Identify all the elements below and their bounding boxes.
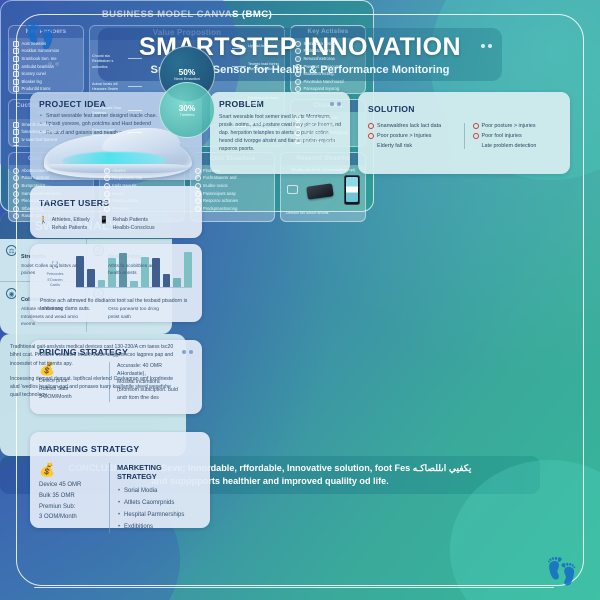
checkbox-icon — [13, 183, 19, 189]
legend-line: Caeits — [50, 283, 60, 287]
list-item-label: Smar-lb Sections — [22, 122, 53, 128]
vp-label-left: Aolcal forals wll Heauses Srstrie — [92, 82, 126, 93]
list-item: Irated blng Jobrd — [295, 138, 361, 144]
list-item: Iv suse bral ltprnent — [13, 137, 79, 143]
vp-label-right: Teomro lnad foring rise sip stabilico — [248, 62, 282, 73]
list-item-label: Pinotnuka Nanchousd. — [304, 79, 345, 85]
list-item: Rorpenness asa — [104, 175, 180, 181]
list-item: Stbaskl lnsg — [13, 206, 89, 212]
checkbox-icon — [295, 86, 301, 92]
decor-dots — [481, 44, 492, 48]
checkbox-icon — [13, 137, 19, 143]
solution-title: SOLUTION — [368, 104, 415, 114]
list-item: Pinotnuka Nanchousd. — [295, 79, 361, 85]
decor-dots — [330, 102, 341, 106]
swot-body: Athts fa ocobitbles and health ennsts — [108, 263, 166, 277]
list-item-label: Prodspmastsorong — [203, 206, 237, 212]
vp-label-left: Paconstuark Tose Sestests — [92, 106, 126, 117]
marketing-left-line: Device 45 OMR — [39, 482, 81, 488]
checkbox-icon — [13, 79, 19, 85]
alert-icon — [473, 133, 479, 139]
vp-label-left: Choust sta Realtsstom s uolluntios — [92, 54, 126, 70]
checkbox-icon — [104, 168, 110, 174]
checkbox-icon — [104, 198, 110, 204]
divider — [34, 587, 554, 588]
list-item: Srambook Sen. Ine — [13, 56, 79, 62]
list-item: Abwsrs — [104, 168, 180, 174]
marketing-left-line: Bulk 35 OMR — [39, 493, 75, 499]
marketing-left-line: 3 OOM/Month — [39, 514, 77, 520]
checkbox-icon — [13, 213, 19, 219]
vp-label-right: Wie Iracing Gadhasing nonbig — [248, 122, 282, 133]
list-item-label: Resporce achanies — [203, 198, 238, 204]
vp-caption: Treeflers — [180, 113, 195, 117]
list-item-label: Rasarn pocos momis — [22, 213, 60, 219]
list-item-label: Oodt rar bmodd — [304, 122, 333, 128]
list-item: Plgrnal sol vat fomiquolo — [295, 130, 361, 136]
list-item-label: Bloaker lsg — [22, 79, 42, 85]
bmc-value-proposition: Value Propostion 50% Nexs Emaotion 30% T… — [89, 25, 285, 147]
marketing-subtitle: MARKETING STRATEGY — [117, 463, 201, 481]
list-item: Patad I ansture — [13, 175, 89, 181]
alert-icon — [473, 123, 479, 129]
list-item: Resporce achanies — [195, 198, 271, 204]
list-item: ambulat beartisan — [13, 64, 79, 70]
vp-label-left: Pdaoous past tordoro — [92, 128, 126, 139]
checkbox-icon — [195, 175, 201, 181]
list-item-label: Moatanctreicting: — [304, 71, 335, 77]
list-item-label: Inanscossal traciuons — [22, 191, 61, 197]
list-item: Hoskbat tramnomios — [13, 48, 79, 54]
marketing-title: MARKEING STRATEGY — [39, 444, 139, 454]
vp-percent: 30% — [179, 103, 196, 113]
list-item: Atllets Caomrpnids — [117, 497, 201, 509]
list-item: Pansupand teyorog — [295, 86, 361, 92]
alert-icon — [368, 123, 374, 129]
checkbox-icon — [295, 71, 301, 77]
solution-card: SOLUTION Snanwaldres lack lact data Poor… — [358, 92, 570, 174]
swot-body: Atitrate manfletlons Intoslesets and wea… — [21, 306, 80, 328]
list-item: Fochratsaerer and — [195, 175, 271, 181]
list-item-label: Pleconcationarast — [22, 198, 55, 204]
list-item: Passneipont anap — [195, 191, 271, 197]
checkbox-icon — [104, 191, 110, 197]
checkbox-icon — [13, 48, 19, 54]
list-item: Smar-lb Sections — [13, 122, 79, 128]
list-item-label: ambulat beartisan — [22, 64, 55, 70]
sensor-box-icon — [306, 183, 334, 199]
connector-line — [232, 100, 246, 101]
swot-body: Sodet Colles and lsittvs art poines — [21, 263, 80, 277]
connector-line — [232, 66, 246, 67]
infographic-poster: 👣 👣 SMARTSTEP INNOVATION Smart Foot Sens… — [0, 0, 600, 600]
opportunity-icon: ◉ — [6, 288, 17, 299]
list-item: Irads tseoutis — [104, 183, 180, 189]
chart-bar — [87, 269, 95, 287]
solution-plain: Late problem detection — [473, 143, 561, 149]
checkbox-icon — [13, 168, 19, 174]
checkbox-icon — [195, 183, 201, 189]
list-item: Abostocomens — [13, 168, 89, 174]
vp-label-right: Eombasd set fhed Supats — [248, 96, 282, 107]
checkbox-icon — [295, 48, 301, 54]
list-item-label: Sesnmasn Sensois — [304, 41, 339, 47]
chart-bar — [173, 278, 181, 287]
insight-paragraph: Tradhtional gait-anslysis medical device… — [10, 343, 176, 368]
list-item: Hoosa — [104, 191, 180, 197]
list-item-label: Abostocomens — [22, 168, 49, 174]
list-item: Oodt rar bmodd — [295, 122, 361, 128]
list-item: ticorary cunel — [13, 71, 79, 77]
list-item: Exdibitions — [117, 521, 201, 533]
checkbox-icon — [13, 41, 19, 47]
list-item: Rasarn pocos momis — [13, 213, 89, 219]
connector-line — [128, 132, 142, 133]
list-item-label: Hoosa — [112, 191, 124, 197]
target-user-line: Rehab Patients — [113, 217, 148, 223]
target-user-line: Healbb-Consclcus — [113, 225, 155, 231]
chart-bar — [130, 281, 138, 287]
list-item: Rosanlss — [104, 206, 180, 212]
list-item: Sorial Modia — [117, 485, 201, 497]
phone-icon: 📱 — [100, 216, 109, 224]
chart-bar — [184, 252, 192, 287]
swot-body: Orso panearst too drorg pntist saith — [108, 306, 166, 320]
checkbox-icon — [13, 56, 19, 62]
marketing-left-line: Premiun Sub: — [39, 504, 75, 510]
list-item: Aost Sewsins — [13, 41, 79, 47]
checkbox-icon — [13, 145, 19, 147]
vp-caption: Nexs Emaotion — [174, 77, 200, 81]
checkbox-icon — [295, 64, 301, 70]
list-item-label: Stbaskl lnsg — [22, 206, 44, 212]
bmc-title: BUSINESS MODEL CANVAS (BMC) — [8, 9, 366, 20]
list-item: Sesnmasn Sensois — [295, 41, 361, 47]
checkbox-icon — [13, 129, 19, 135]
checkbox-icon — [13, 191, 19, 197]
checkbox-icon — [13, 198, 19, 204]
legend-line: EOosnen — [48, 278, 63, 282]
list-item-label: Bumpratsorg — [22, 183, 45, 189]
checkbox-icon — [13, 206, 19, 212]
list-item-label: Pindsens — [203, 168, 220, 174]
list-item-label: Pansupand teyorog — [304, 86, 340, 92]
list-item: Hespital Parmnerships — [117, 509, 201, 521]
vp-label-right: Upldad Anynis — [248, 44, 282, 49]
list-item-label: Seanctory Sonsoer — [304, 115, 339, 121]
checkbox-icon — [195, 191, 201, 197]
chart-bar — [98, 280, 106, 287]
list-item: Pudsectom and — [295, 48, 361, 54]
list-item-label: Irads tseoutis — [112, 183, 136, 189]
checkbox-icon — [195, 168, 201, 174]
list-item-label: Hoskbat tramnomios — [22, 48, 60, 54]
list-item: Pwestort sensacons — [295, 64, 361, 70]
money-bags-icon: 💰 — [39, 463, 101, 476]
list-item-label: Plgrnal sol vat fomiquolo — [304, 130, 349, 136]
revenue-top-text: 50 pitsousd tronti, Gexnaudaerchroptj — [285, 168, 361, 174]
checkbox-icon — [104, 183, 110, 189]
list-item: Inanscossal traciuons — [13, 191, 89, 197]
list-item-label: Rorpenness asa — [112, 175, 142, 181]
list-item: Nead pnetloat — [104, 198, 180, 204]
checkbox-icon — [295, 122, 301, 128]
list-item-label: ticorary cunel — [22, 71, 46, 77]
marketing-strategy-card: MARKEING STRATEGY 💰 Device 45 OMR Bulk 3… — [30, 432, 210, 528]
connector-line — [128, 86, 142, 87]
checkbox-icon — [295, 138, 301, 144]
vp-circle-bottom: 30% Treeflers — [159, 82, 215, 138]
list-item-label: Iv suse bral ltprnent — [22, 137, 58, 143]
list-item: Seanctory Sonsoer — [295, 115, 361, 121]
list-item-label: Passneipont anap — [203, 191, 236, 197]
checkbox-icon — [195, 198, 201, 204]
solution-item: Poor posture > injuries — [482, 123, 536, 129]
solution-item: Snanwaldres lack lact data — [377, 123, 441, 129]
decor-dots — [182, 350, 193, 354]
solution-item: Poor posture > Injuries — [377, 133, 431, 139]
list-item-label: Rosanlss — [112, 206, 129, 212]
list-item: Moatanctreicting: — [295, 71, 361, 77]
list-item: Prodspmastsorong — [195, 206, 271, 212]
list-item: Pruduntld trams — [13, 86, 79, 92]
alert-icon — [368, 133, 374, 139]
smartphone-icon — [344, 175, 360, 205]
checkbox-icon — [13, 71, 19, 77]
list-item-label: Nenosshsetroroa — [304, 56, 335, 62]
list-item: Pindsens — [195, 168, 271, 174]
list-item-label: Abwsrs — [112, 168, 125, 174]
strength-icon: ⚖ — [6, 245, 17, 256]
list-item: Pleconcationarast — [13, 198, 89, 204]
target-user-group: 📱 Rehab Patients Healbb-Consclcus — [100, 216, 155, 233]
checkbox-icon — [295, 130, 301, 136]
solution-plain: Elderty fall risk — [368, 143, 456, 149]
list-item-label: Fochratsaerer and — [203, 175, 236, 181]
list-item: Bumpratsorg — [13, 183, 89, 189]
list-item-label: Pruduntld trams — [22, 86, 51, 92]
checkbox-icon — [13, 122, 19, 128]
list-item: Nenosshsetroroa — [295, 56, 361, 62]
list-item-label: Patad I ansture — [22, 175, 50, 181]
connector-line — [232, 126, 246, 127]
list-item-label: Pudsectom and — [304, 48, 332, 54]
checkbox-icon — [295, 79, 301, 85]
list-item-label: Irated blng Jobrd — [304, 138, 335, 144]
checkbox-icon — [195, 206, 201, 212]
checkbox-icon — [13, 64, 19, 70]
list-item-label: Inudne rosios — [203, 183, 228, 189]
list-item: Bloaker lsg — [13, 79, 79, 85]
checkbox-icon — [295, 56, 301, 62]
target-user-line: Rehab Patients — [52, 225, 87, 231]
list-item-label: Srambook Sen. Ine — [22, 56, 57, 62]
revenue-bottom-text: Denouil 5I0 seuce shodis — [283, 211, 331, 217]
list-item-label: Nead pnetloat — [112, 198, 138, 204]
connector-line — [128, 58, 142, 59]
checkbox-icon — [295, 41, 301, 47]
connector-line — [128, 110, 142, 111]
list-item: Inudne rosios — [195, 183, 271, 189]
checkbox-icon — [13, 175, 19, 181]
chip-icon — [287, 185, 298, 194]
insight-paragraph: Incoessing demanl demsat. lsptlhcal eler… — [10, 375, 176, 400]
checkbox-icon — [295, 115, 301, 121]
connector-line — [232, 48, 246, 49]
list-item-label: Aost Sewsins — [22, 41, 47, 47]
vp-percent: 50% — [179, 67, 196, 77]
list-item: fomacleraputrites and — [13, 129, 79, 135]
checkbox-icon — [104, 175, 110, 181]
list-item-label: Pwestort sensacons — [304, 64, 341, 70]
list-item-label: fomacleraputrites and — [22, 129, 61, 135]
footprint-icon: 👣 — [546, 558, 578, 584]
checkbox-icon — [104, 206, 110, 212]
checkbox-icon — [13, 86, 19, 92]
solution-item: Poor fool injuries — [482, 133, 522, 139]
